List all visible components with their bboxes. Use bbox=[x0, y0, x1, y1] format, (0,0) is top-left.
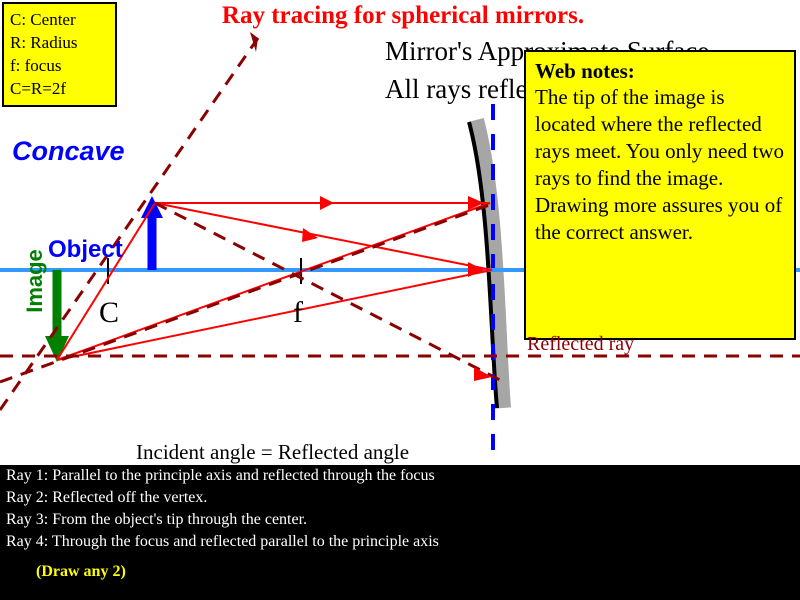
dashed-ray-upper-arrowhead bbox=[250, 32, 258, 52]
focus-label: f bbox=[293, 296, 303, 330]
draw-any-note: (Draw any 2) bbox=[0, 553, 800, 581]
legend-line-3: f: focus bbox=[10, 54, 115, 77]
legend-line-4: C=R=2f bbox=[10, 77, 115, 100]
center-label: C bbox=[99, 296, 119, 330]
legend-box: C: Center R: Radius f: focus C=R=2f bbox=[2, 2, 117, 107]
dashed-ray-tip-to-mirror-bottom bbox=[155, 203, 500, 380]
ray-arrowhead-mirror-vertex bbox=[468, 262, 484, 277]
web-notes-box: Web notes: The tip of the image is locat… bbox=[524, 50, 796, 340]
ray2-incident bbox=[155, 203, 492, 270]
dashed-extra bbox=[0, 368, 500, 380]
concave-label: Concave bbox=[12, 136, 125, 167]
web-notes-body: The tip of the image is located where th… bbox=[535, 84, 785, 246]
ray1-arrowhead bbox=[320, 196, 334, 210]
reflected-ray-label: Reflected ray bbox=[527, 333, 634, 356]
object-label: Object bbox=[48, 236, 123, 264]
diagram-stage: C: Center R: Radius f: focus C=R=2f Ray … bbox=[0, 0, 800, 600]
ray-rule-4: Ray 4: Through the focus and reflected p… bbox=[0, 531, 800, 553]
legend-line-1: C: Center bbox=[10, 8, 115, 31]
page-title: Ray tracing for spherical mirrors. bbox=[178, 2, 628, 30]
ray-rule-1: Ray 1: Parallel to the principle axis an… bbox=[0, 465, 800, 487]
ray-rule-3: Ray 3: From the object's tip through the… bbox=[0, 509, 800, 531]
incident-angle-label: Incident angle = Reflected angle bbox=[136, 440, 409, 465]
ray3-through-center bbox=[57, 203, 155, 360]
legend-line-2: R: Radius bbox=[10, 31, 115, 54]
ray-rules-bar: Ray 1: Parallel to the principle axis an… bbox=[0, 465, 800, 600]
web-notes-title: Web notes: bbox=[535, 58, 785, 84]
ray-rule-2: Ray 2: Reflected off the vertex. bbox=[0, 487, 800, 509]
image-label: Image bbox=[22, 226, 48, 336]
